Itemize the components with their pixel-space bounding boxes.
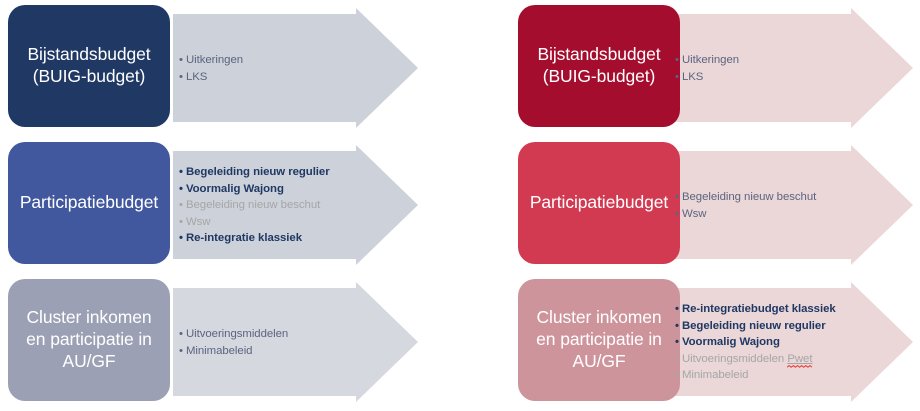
bullet-item: •Re-integratie klassiek	[179, 230, 427, 247]
diagram-row: Participatiebudget•Begeleiding nieuw bes…	[460, 137, 920, 274]
category-box-label: Bijstandsbudget (BUIG-budget)	[537, 44, 660, 88]
bullet-text: Uitkeringen	[682, 54, 739, 66]
diagram-column-left: Bijstandsbudget (BUIG-budget)•Uitkeringe…	[0, 0, 460, 411]
bullet-item: •LKS	[675, 69, 903, 86]
bullet-text: Voormalig Wajong	[682, 336, 780, 348]
bullet-text: Uitvoeringsmiddelen	[186, 328, 288, 340]
bullet-text: LKS	[186, 71, 207, 83]
bullet-dot-icon: •	[675, 334, 679, 351]
category-box: Participatiebudget	[518, 142, 680, 264]
bullet-item: •Wsw	[179, 214, 427, 231]
bullet-item: •Re-integratiebudget klassiek	[675, 301, 903, 318]
bullet-item: •Minimabeleid	[179, 343, 427, 360]
bullet-text: Uitvoeringsmiddelen	[682, 353, 787, 365]
bullet-item: •Voormalig Wajong	[179, 181, 427, 198]
diagram-row: Bijstandsbudget (BUIG-budget)•Uitkeringe…	[0, 0, 460, 137]
bullet-item: •Begeleiding nieuw beschut	[179, 197, 427, 214]
category-box-label: Participatiebudget	[20, 192, 158, 214]
bullet-dot-icon: •	[675, 189, 679, 206]
category-box: Cluster inkomen en participatie in AU/GF	[8, 279, 170, 401]
bullet-dot-icon: •	[675, 351, 679, 368]
bullet-list: •Begeleiding nieuw regulier•Voormalig Wa…	[177, 137, 427, 274]
bullet-item: •Minimabeleid	[675, 367, 903, 384]
bullet-item: •Uitvoeringsmiddelen	[179, 326, 427, 343]
bullet-dot-icon: •	[179, 230, 183, 247]
diagram-column-right: Bijstandsbudget (BUIG-budget)•Uitkeringe…	[460, 0, 920, 411]
bullet-dot-icon: •	[179, 214, 183, 231]
bullet-dot-icon: •	[179, 69, 183, 86]
bullet-dot-icon: •	[179, 197, 183, 214]
bullet-dot-icon: •	[675, 301, 679, 318]
bullet-dot-icon: •	[675, 69, 679, 86]
bullet-text: Minimabeleid	[186, 345, 253, 357]
bullet-list: •Uitkeringen•LKS	[673, 0, 903, 137]
bullet-item: •Voormalig Wajong	[675, 334, 903, 351]
bullet-text: Wsw	[682, 208, 707, 220]
bullet-dot-icon: •	[179, 181, 183, 198]
bullet-item: •Uitkeringen	[675, 52, 903, 69]
category-box-label: Bijstandsbudget (BUIG-budget)	[27, 44, 150, 88]
bullet-text: Wsw	[186, 216, 211, 228]
bullet-dot-icon: •	[179, 164, 183, 181]
bullet-item: •Begeleiding nieuw regulier	[675, 318, 903, 335]
bullet-item: •LKS	[179, 69, 427, 86]
category-box-label: Cluster inkomen en participatie in AU/GF	[536, 307, 662, 373]
category-box: Cluster inkomen en participatie in AU/GF	[518, 279, 680, 401]
category-box: Bijstandsbudget (BUIG-budget)	[8, 5, 170, 127]
diagram-row: Cluster inkomen en participatie in AU/GF…	[460, 274, 920, 411]
diagram-row: Bijstandsbudget (BUIG-budget)•Uitkeringe…	[460, 0, 920, 137]
bullet-text: Uitkeringen	[186, 54, 243, 66]
bullet-item: •Uitkeringen	[179, 52, 427, 69]
bullet-text: Begeleiding nieuw regulier	[186, 166, 330, 178]
bullet-item: •Begeleiding nieuw beschut	[675, 189, 903, 206]
bullet-dot-icon: •	[675, 52, 679, 69]
bullet-list: •Begeleiding nieuw beschut•Wsw	[673, 137, 903, 274]
bullet-text: Begeleiding nieuw beschut	[186, 199, 320, 211]
bullet-dot-icon: •	[675, 206, 679, 223]
misspelled-word: Pwet	[787, 353, 812, 365]
category-box-label: Cluster inkomen en participatie in AU/GF	[26, 307, 152, 373]
bullet-dot-icon: •	[675, 367, 679, 384]
spellcheck-squiggle	[787, 365, 812, 368]
bullet-item: •Begeleiding nieuw regulier	[179, 164, 427, 181]
bullet-text: Begeleiding nieuw regulier	[682, 320, 826, 332]
diagram-row: Participatiebudget•Begeleiding nieuw reg…	[0, 137, 460, 274]
bullet-text: Voormalig Wajong	[186, 183, 284, 195]
bullet-list: •Uitvoeringsmiddelen•Minimabeleid	[177, 274, 427, 411]
bullet-item: •Uitvoeringsmiddelen Pwet	[675, 351, 903, 368]
category-box: Bijstandsbudget (BUIG-budget)	[518, 5, 680, 127]
bullet-item: •Wsw	[675, 206, 903, 223]
bullet-text: Re-integratiebudget klassiek	[682, 303, 836, 315]
bullet-text: LKS	[682, 71, 703, 83]
budget-shift-diagram: Bijstandsbudget (BUIG-budget)•Uitkeringe…	[0, 0, 920, 411]
bullet-dot-icon: •	[179, 326, 183, 343]
category-box: Participatiebudget	[8, 142, 170, 264]
bullet-text: Minimabeleid	[682, 369, 749, 381]
bullet-dot-icon: •	[675, 318, 679, 335]
bullet-dot-icon: •	[179, 52, 183, 69]
bullet-list: •Uitkeringen•LKS	[177, 0, 427, 137]
category-box-label: Participatiebudget	[530, 192, 668, 214]
bullet-text: Re-integratie klassiek	[186, 232, 302, 244]
misspelled-word-text: Pwet	[787, 353, 812, 365]
bullet-list: •Re-integratiebudget klassiek•Begeleidin…	[673, 274, 903, 411]
diagram-row: Cluster inkomen en participatie in AU/GF…	[0, 274, 460, 411]
bullet-dot-icon: •	[179, 343, 183, 360]
bullet-text: Begeleiding nieuw beschut	[682, 191, 816, 203]
